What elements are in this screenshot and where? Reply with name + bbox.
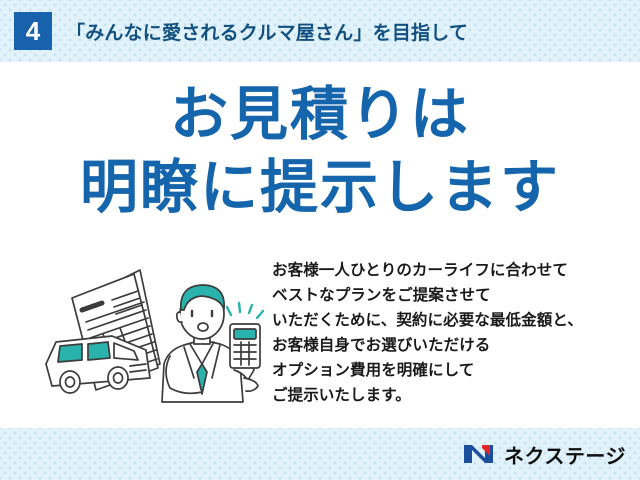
- header-title: 「みんなに愛されるクルマ屋さん」を目指して: [66, 18, 468, 45]
- body-copy-line: ベストなプランをご提案させて: [272, 283, 632, 308]
- brand-name: ネクステージ: [504, 440, 626, 469]
- body-copy-line: お客様一人ひとりのカーライフに合わせて: [272, 258, 632, 283]
- nextage-n-logo-icon: [463, 442, 497, 466]
- headline-line-2: 明瞭に提示します: [0, 157, 640, 218]
- header-bar: 4 「みんなに愛されるクルマ屋さん」を目指して: [0, 0, 640, 62]
- footer-bar: ネクステージ: [0, 428, 640, 480]
- body-copy: お客様一人ひとりのカーライフに合わせて ベストなプランをご提案させて いただくた…: [272, 258, 632, 408]
- headline: お見積りは 明瞭に提示します: [0, 84, 640, 219]
- calculator-icon: [230, 324, 260, 368]
- body-copy-line: お客様自身でお選びいただける: [272, 333, 632, 358]
- illustration: [34, 252, 274, 422]
- sparkle-icon: [227, 303, 263, 318]
- body-copy-line: いただくために、契約に必要な最低金額と、: [272, 308, 632, 333]
- headline-line-1: お見積りは: [0, 84, 640, 145]
- advertisement-page: 4 「みんなに愛されるクルマ屋さん」を目指して お見積りは 明瞭に提示します お…: [0, 0, 640, 480]
- body-copy-line: ご提示いたします。: [272, 383, 632, 408]
- brand-logo: ネクステージ: [463, 440, 626, 469]
- main-content-area: お見積りは 明瞭に提示します お客様一人ひとりのカーライフに合わせて ベストなプ…: [0, 62, 640, 428]
- section-number-badge: 4: [14, 12, 52, 50]
- body-copy-line: オプション費用を明確にして: [272, 358, 632, 383]
